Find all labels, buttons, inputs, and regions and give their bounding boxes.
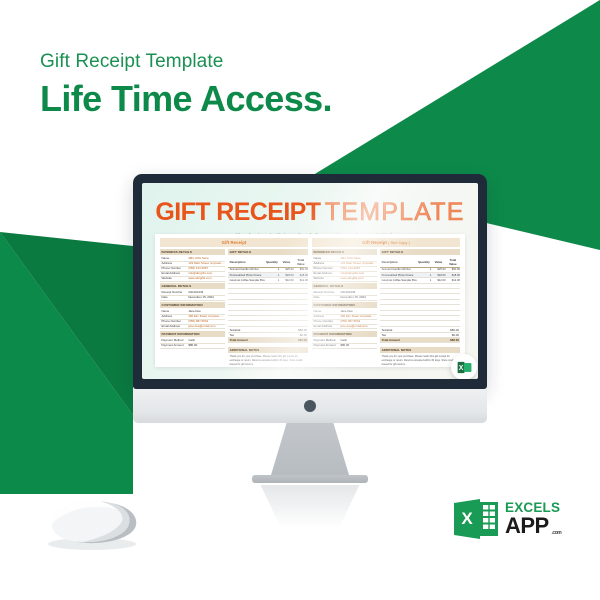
field-row: Payment Amount$86.00: [312, 344, 377, 349]
table-header-row: Description Quantity Value Total Value: [228, 257, 308, 267]
field-row: Websitewww.abcgifts.com: [312, 277, 377, 282]
receipt-title: Gift Receipt: [160, 238, 308, 247]
section-heading-items: GIFT DETAILS: [228, 249, 308, 255]
field-value: December 15, 2024: [187, 296, 225, 301]
excel-logo-icon: X: [452, 497, 500, 541]
column-header-value: Value: [279, 257, 293, 267]
monitor-screen: GIFT RECEIPT TEMPLATE Structured form fo…: [142, 183, 478, 379]
promo-headline-block: Gift Receipt Template Life Time Access.: [40, 52, 332, 119]
poster-canvas: Gift Receipt Template Life Time Access. …: [0, 0, 600, 600]
receipt-panel: Gift Receipt BUSINESS DETAILS NameABC Gi…: [160, 238, 308, 363]
section-heading-customer: CUSTOMER INFORMATION: [312, 302, 377, 308]
totals-block: Subtotal$80.00 Tax$6.00 Total Amount$86.…: [380, 328, 460, 343]
column-header-total: Total Value: [446, 257, 460, 267]
document-title-bold: GIFT RECEIPT: [155, 198, 320, 226]
field-row: DateDecember 15, 2024: [160, 296, 225, 301]
general-rows: Receipt NumberGR-001234 DateDecember 15,…: [160, 291, 225, 301]
excel-icon: X: [457, 360, 472, 375]
receipt-title-text: Gift Receipt: [362, 240, 387, 245]
gift-items-table: Description Quantity Value Total Value S…: [380, 257, 460, 327]
brand-line-2: APP.com: [505, 515, 560, 537]
field-value: $86.00: [339, 344, 377, 349]
business-rows: NameABC Gifts Store Address123 Main Stre…: [312, 257, 377, 282]
section-heading-general: GENERAL DETAILS: [312, 283, 377, 289]
field-key: Email Address: [312, 325, 339, 330]
field-row: Email Addressjane.doe@email.com: [312, 325, 377, 330]
field-row: Websitewww.abcgifts.com: [160, 277, 225, 282]
business-rows: NameABC Gifts Store Address123 Main Stre…: [160, 257, 225, 282]
imac-mockup: GIFT RECEIPT TEMPLATE Structured form fo…: [133, 174, 487, 529]
brand-dotcom: .com: [552, 531, 562, 536]
totals-block: Subtotal$80.00 Tax$6.00 Total Amount$86.…: [228, 328, 308, 343]
column-header-description: Description: [228, 257, 265, 267]
field-row: Email Addressjane.doe@email.com: [160, 325, 225, 330]
section-heading-payment: PAYMENT INFORMATION: [312, 331, 377, 337]
payment-rows: Payment MethodCash Payment Amount$86.00: [160, 339, 225, 349]
field-key: Website: [312, 277, 339, 282]
field-value: December 15, 2024: [339, 296, 377, 301]
gift-items-table: Description Quantity Value Total Value S…: [228, 257, 308, 327]
excel-badge[interactable]: X: [451, 354, 477, 379]
section-heading-items: GIFT DETAILS: [380, 249, 460, 255]
general-rows: Receipt NumberGR-001234 DateDecember 15,…: [312, 291, 377, 301]
svg-text:X: X: [458, 365, 463, 372]
column-header-value: Value: [431, 257, 445, 267]
field-value: www.abcgifts.com: [339, 277, 377, 282]
monitor-bezel: GIFT RECEIPT TEMPLATE Structured form fo…: [133, 174, 487, 389]
field-value: www.abcgifts.com: [187, 277, 225, 282]
customer-rows: NameJane Doe Address456 Elm Road, Anytow…: [312, 310, 377, 330]
field-value: $86.00: [187, 344, 225, 349]
brand-line-2-text: APP: [505, 513, 549, 538]
monitor-reflection: [245, 485, 375, 529]
section-heading-business: BUSINESS DETAILS: [160, 249, 225, 255]
monitor-stand: [271, 423, 349, 475]
field-row: DateDecember 15, 2024: [312, 296, 377, 301]
monitor-logo-dot: [304, 400, 316, 412]
notes-body: Thank you for your purchase. Please reta…: [380, 354, 460, 368]
document-title: GIFT RECEIPT TEMPLATE: [142, 200, 478, 225]
section-heading-customer: CUSTOMER INFORMATION: [160, 302, 225, 308]
column-header-quantity: Quantity: [417, 257, 431, 267]
notes-body: Thank you for your purchase. Please reta…: [228, 354, 308, 368]
field-key: Date: [312, 296, 339, 301]
receipt-title-suffix: ( Red Copy ): [388, 241, 410, 245]
field-key: Email Address: [160, 325, 187, 330]
spreadsheet-preview[interactable]: Gift Receipt BUSINESS DETAILS NameABC Gi…: [155, 234, 465, 367]
field-key: Payment Amount: [160, 344, 187, 349]
section-heading-business: BUSINESS DETAILS: [312, 249, 377, 255]
monitor-base: [252, 475, 368, 483]
receipt-title-text: Gift Receipt: [222, 240, 247, 245]
field-key: Payment Amount: [312, 344, 339, 349]
receipt-title: Gift Receipt ( Red Copy ): [312, 238, 460, 247]
section-heading-general: GENERAL DETAILS: [160, 283, 225, 289]
field-key: Website: [160, 277, 187, 282]
document-title-light: TEMPLATE: [325, 198, 465, 226]
app-format-badges: X: [451, 354, 477, 379]
section-heading-notes: ADDITIONAL NOTES: [380, 347, 460, 353]
customer-rows: NameJane Doe Address456 Elm Road, Anytow…: [160, 310, 225, 330]
excelsapp-logo[interactable]: X EXCELS APP.com: [452, 497, 560, 541]
field-key: Date: [160, 296, 187, 301]
column-header-total: Total Value: [294, 257, 308, 267]
field-value: jane.doe@email.com: [339, 325, 377, 330]
promo-headline: Life Time Access.: [40, 78, 332, 119]
table-row: [228, 321, 308, 326]
payment-rows: Payment MethodCash Payment Amount$86.00: [312, 339, 377, 349]
section-heading-payment: PAYMENT INFORMATION: [160, 331, 225, 337]
column-header-quantity: Quantity: [265, 257, 279, 267]
column-header-description: Description: [380, 257, 417, 267]
computer-mouse: [42, 494, 146, 552]
table-row: [380, 321, 460, 326]
svg-text:X: X: [461, 509, 473, 528]
receipt-panel-copy: Gift Receipt ( Red Copy ) BUSINESS DETAI…: [312, 238, 460, 363]
field-row: Payment Amount$86.00: [160, 344, 225, 349]
field-value: jane.doe@email.com: [187, 325, 225, 330]
promo-eyebrow: Gift Receipt Template: [40, 52, 332, 73]
section-heading-notes: ADDITIONAL NOTES: [228, 347, 308, 353]
total-row-grand: Total Amount$86.00: [228, 338, 308, 343]
total-row-grand: Total Amount$86.00: [380, 338, 460, 343]
table-header-row: Description Quantity Value Total Value: [380, 257, 460, 267]
monitor-chin: [133, 389, 487, 423]
